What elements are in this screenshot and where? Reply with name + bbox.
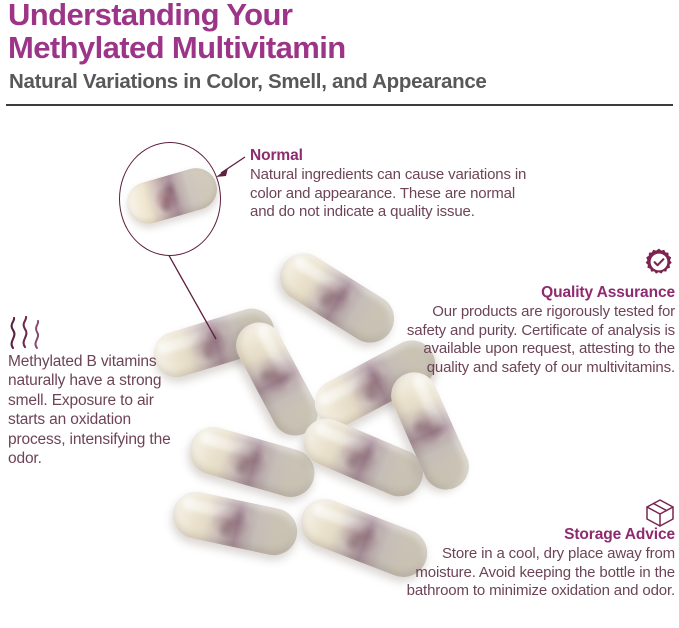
section-smell: Methylated B vitamins naturally have a s… [8,352,188,468]
title-line-1: Understanding Your [8,0,292,32]
verified-badge-icon [645,248,673,276]
section-normal: Normal Natural ingredients can cause var… [250,146,540,222]
page-subtitle: Natural Variations in Color, Smell, and … [9,70,487,94]
quality-assurance-heading: Quality Assurance [405,283,675,302]
box-icon [645,498,675,528]
quality-assurance-body: Our products are rigorously tested for s… [405,303,675,377]
scent-waves-icon [6,316,50,350]
normal-body: Natural ingredients can cause variations… [250,166,540,222]
magnified-capsule-icon [122,163,221,229]
section-quality-assurance: Quality Assurance Our products are rigor… [405,283,675,377]
capsule [271,244,403,351]
magnifier-callout [119,142,221,256]
normal-heading: Normal [250,146,540,165]
storage-advice-body: Store in a cool, dry place away from moi… [405,545,675,601]
title-line-2: Methylated Multivitamin [8,31,668,64]
section-storage-advice: Storage Advice Store in a cool, dry plac… [405,525,675,601]
header-divider [6,104,673,106]
storage-advice-heading: Storage Advice [405,525,675,544]
capsule [168,487,301,559]
infographic-page: Understanding Your Methylated Multivitam… [0,0,679,628]
page-title: Understanding Your Methylated Multivitam… [8,0,668,64]
smell-body: Methylated B vitamins naturally have a s… [8,352,188,468]
